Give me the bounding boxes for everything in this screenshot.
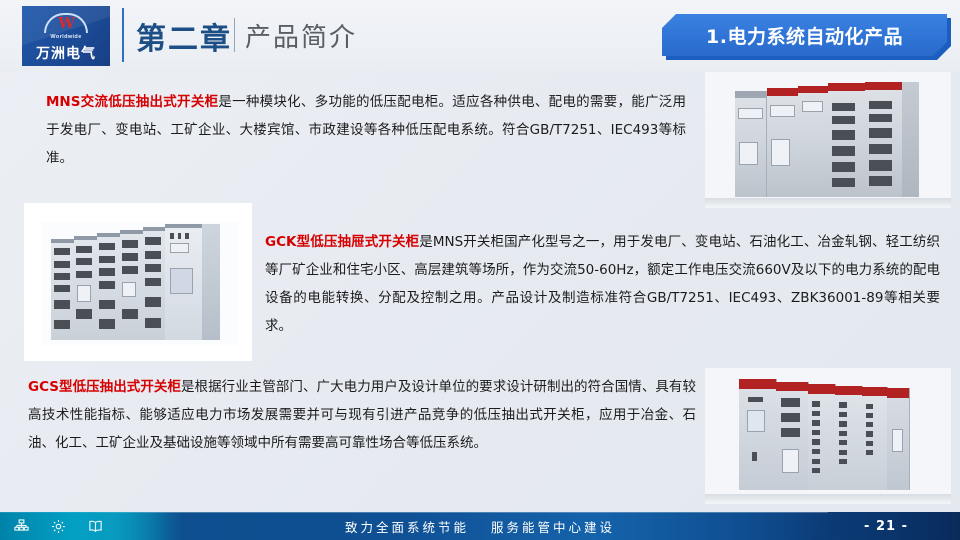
company-logo: W Worldwide 万洲电气: [22, 6, 110, 66]
title-separator: [234, 18, 235, 52]
page-number-badge: - 21 -: [812, 512, 960, 540]
paragraph-gcs: GCS型低压抽出式开关柜是根据行业主管部门、广大电力用户及设计单位的要求设计研制…: [28, 373, 696, 457]
paragraph-mns-highlight: MNS交流低压抽出式开关柜: [46, 94, 218, 110]
header-accent-rule: [122, 8, 124, 62]
logo-english-name: Worldwide: [22, 34, 110, 40]
logo-chinese-name: 万洲电气: [22, 43, 110, 63]
photo-gck: [24, 203, 252, 361]
slide-header: W Worldwide 万洲电气 第二章 产品简介 1.电力系统自动化产品: [0, 0, 960, 72]
section-chip-label: 1.电力系统自动化产品: [662, 14, 947, 56]
photo-mns: [705, 72, 951, 208]
logo-emblem-icon: W: [22, 11, 110, 35]
paragraph-gcs-highlight: GCS型低压抽出式开关柜: [28, 379, 181, 395]
section-chip[interactable]: 1.电力系统自动化产品: [662, 14, 947, 56]
paragraph-mns: MNS交流低压抽出式开关柜是一种模块化、多功能的低压配电柜。适应各种供电、配电的…: [46, 88, 686, 172]
footer-slogan-right: 服务能管中心建设: [491, 517, 615, 536]
paragraph-gck: GCK型低压抽屉式开关柜是MNS开关柜国产化型号之一，用于发电厂、变电站、石油化…: [265, 228, 940, 340]
slide-footer: 致力全面系统节能 服务能管中心建设 - 21 -: [0, 512, 960, 540]
paragraph-gck-highlight: GCK型低压抽屉式开关柜: [265, 234, 419, 250]
logo-w-letter: W: [22, 14, 110, 32]
slide-canvas: W Worldwide 万洲电气 第二章 产品简介 1.电力系统自动化产品 MN…: [0, 0, 960, 540]
chapter-title: 第二章: [136, 14, 232, 58]
page-number: - 21 -: [864, 519, 908, 534]
photo-gcs: [705, 368, 951, 504]
footer-slogan-left: 致力全面系统节能: [345, 517, 469, 536]
page-subtitle: 产品简介: [245, 17, 357, 54]
